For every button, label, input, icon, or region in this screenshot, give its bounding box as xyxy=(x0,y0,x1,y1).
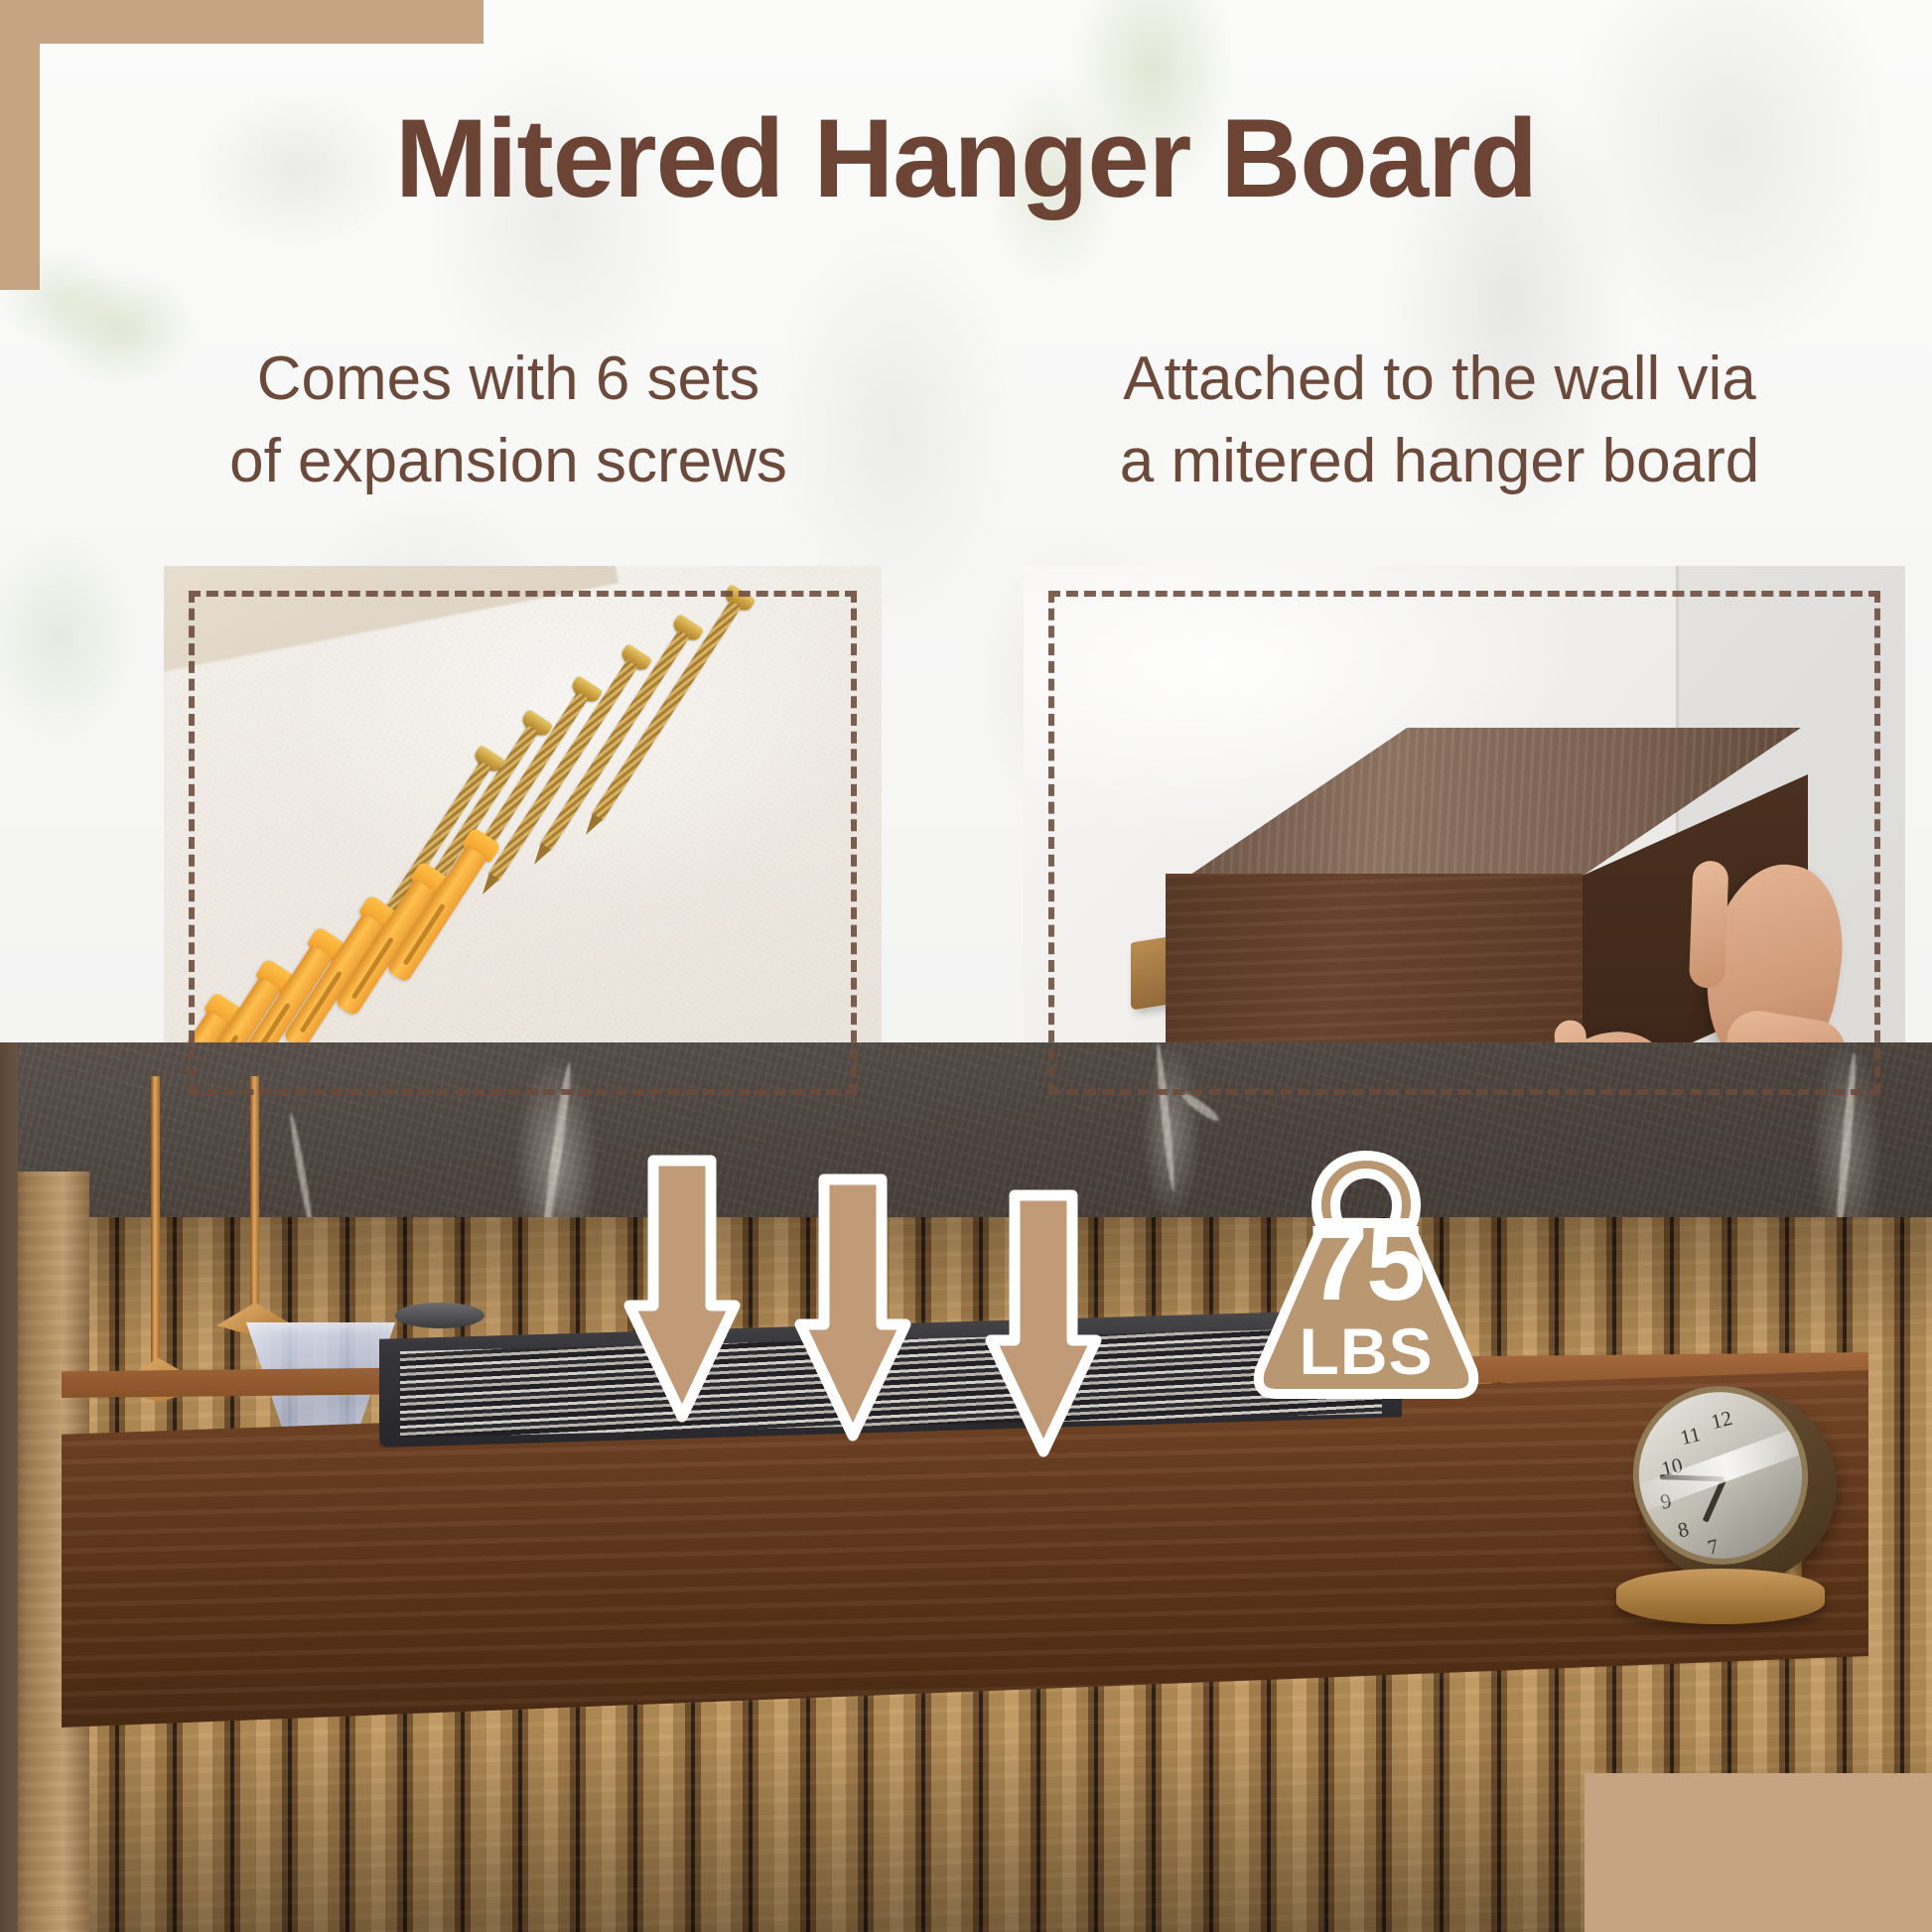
hanger-board-mounting-photo xyxy=(1024,566,1905,1120)
feature-caption-right-line2: a mitered hanger board xyxy=(993,420,1886,502)
copper-candlestick-stem xyxy=(151,1076,160,1374)
product-infographic: Mitered Hanger Board Comes with 6 sets o… xyxy=(0,0,1932,1932)
weight-unit: LBS xyxy=(1231,1318,1501,1384)
weight-value: 75 xyxy=(1231,1209,1501,1316)
expansion-screws-photo xyxy=(164,566,882,1120)
marble-vein xyxy=(540,1062,575,1241)
marble-vein xyxy=(1834,1052,1860,1241)
marble-vein xyxy=(288,1112,316,1230)
clock-base xyxy=(1616,1569,1825,1624)
arrow-down-icon xyxy=(985,1189,1102,1459)
feature-caption-right-line1: Attached to the wall via xyxy=(993,338,1886,420)
corner-accent-bottom-right xyxy=(1585,1773,1932,1932)
clock-numeral: 10 xyxy=(1659,1452,1685,1481)
feature-caption-left: Comes with 6 sets of expansion screws xyxy=(131,338,886,502)
clock-numeral: 8 xyxy=(1675,1517,1691,1544)
left-wall-edge xyxy=(0,1042,18,1932)
clock-numeral: 9 xyxy=(1658,1488,1674,1515)
clock-minute-hand xyxy=(1660,1474,1724,1481)
arrow-down-icon xyxy=(794,1173,911,1444)
finger xyxy=(1689,861,1728,989)
weight-capacity-badge: 75 LBS xyxy=(1231,1144,1501,1410)
soundbar-knob xyxy=(395,1303,484,1328)
feature-caption-left-line2: of expansion screws xyxy=(131,420,886,502)
feature-caption-right: Attached to the wall via a mitered hange… xyxy=(993,338,1886,502)
feature-caption-left-line1: Comes with 6 sets xyxy=(131,338,886,420)
clock-numeral: 12 xyxy=(1709,1406,1734,1435)
marble-vein xyxy=(1154,1042,1177,1191)
corner-accent-top-left-horizontal xyxy=(0,0,483,44)
copper-candlestick-stem xyxy=(250,1076,259,1318)
marble-vein xyxy=(1178,1089,1221,1124)
arrow-down-icon xyxy=(623,1155,741,1425)
clock-numeral: 7 xyxy=(1705,1534,1721,1561)
clock-numeral: 11 xyxy=(1678,1422,1704,1450)
page-title: Mitered Hanger Board xyxy=(0,103,1932,214)
clock-hour-hand xyxy=(1703,1478,1726,1522)
